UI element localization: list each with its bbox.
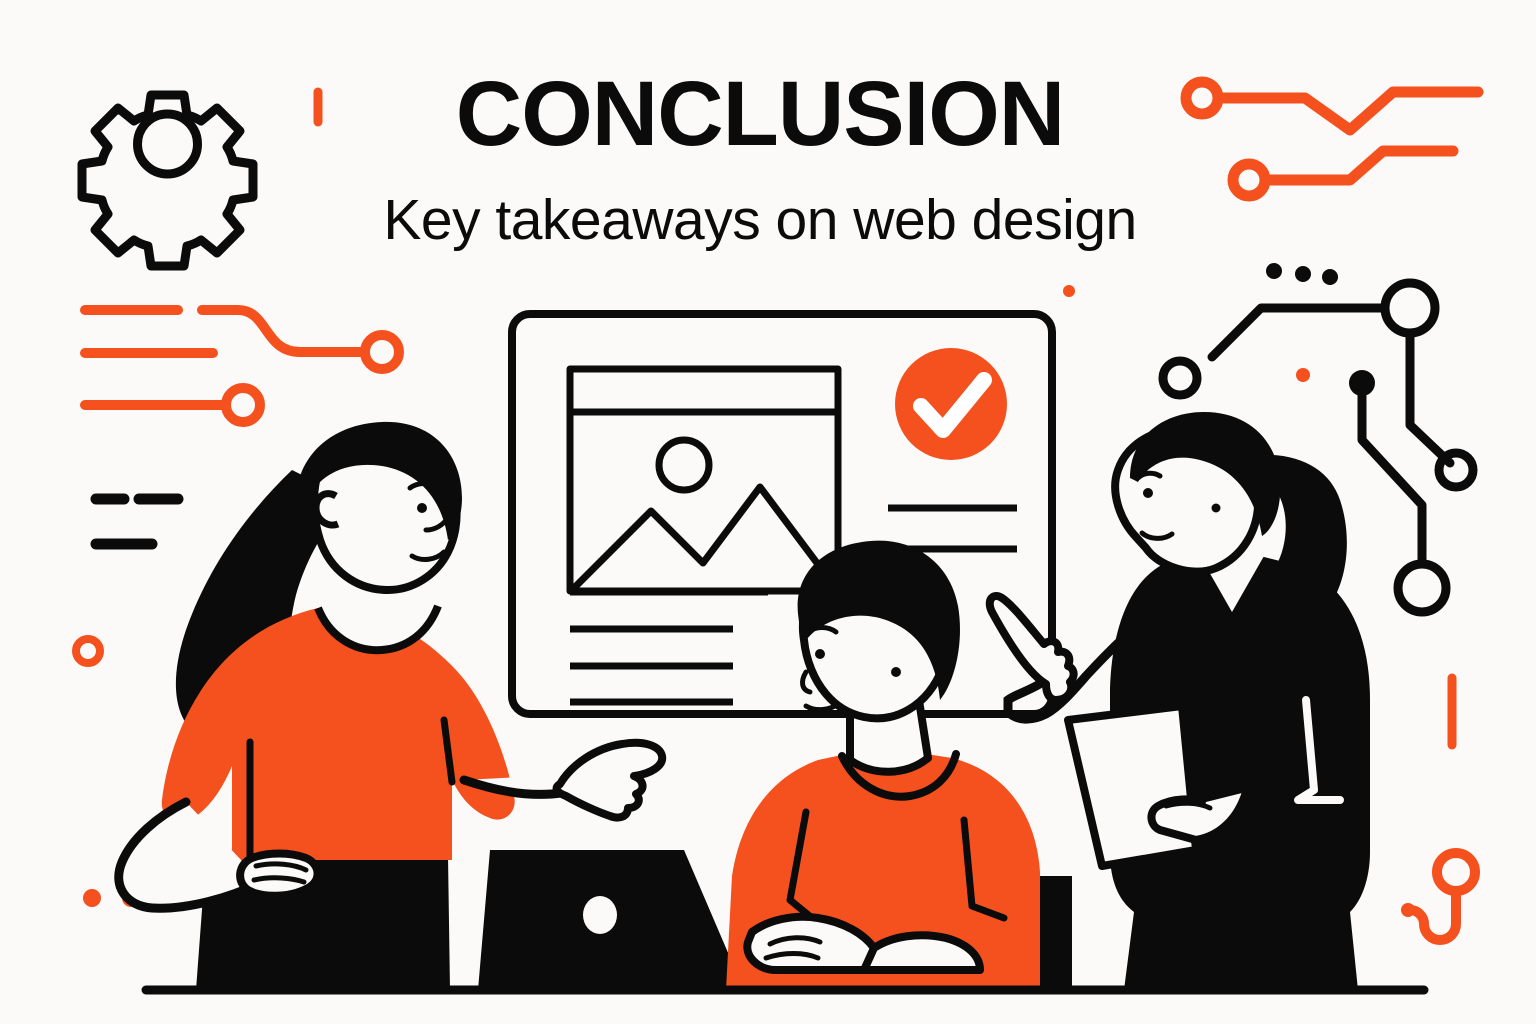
- check-circle-icon: [895, 348, 1007, 460]
- orange-dot-accent: [1063, 285, 1075, 297]
- man-hand-right: [864, 935, 980, 970]
- right-woman-skirt: [1124, 912, 1358, 990]
- man-ear: [891, 667, 901, 677]
- chair-back: [1040, 876, 1072, 990]
- left-woman-hip-hand: [240, 854, 317, 896]
- laptop-logo: [583, 896, 617, 934]
- right-woman-ear: [1212, 504, 1221, 513]
- left-woman-eye: [417, 503, 427, 513]
- man-eye: [815, 649, 825, 659]
- right-woman-eye: [1143, 488, 1153, 498]
- left-woman-ear: [316, 494, 338, 525]
- browser-wireframe-panel: [512, 314, 1052, 714]
- illustration-canvas: CONCLUSION Key takeaways on web design: [0, 0, 1536, 1024]
- conclusion-illustration: [0, 0, 1536, 1024]
